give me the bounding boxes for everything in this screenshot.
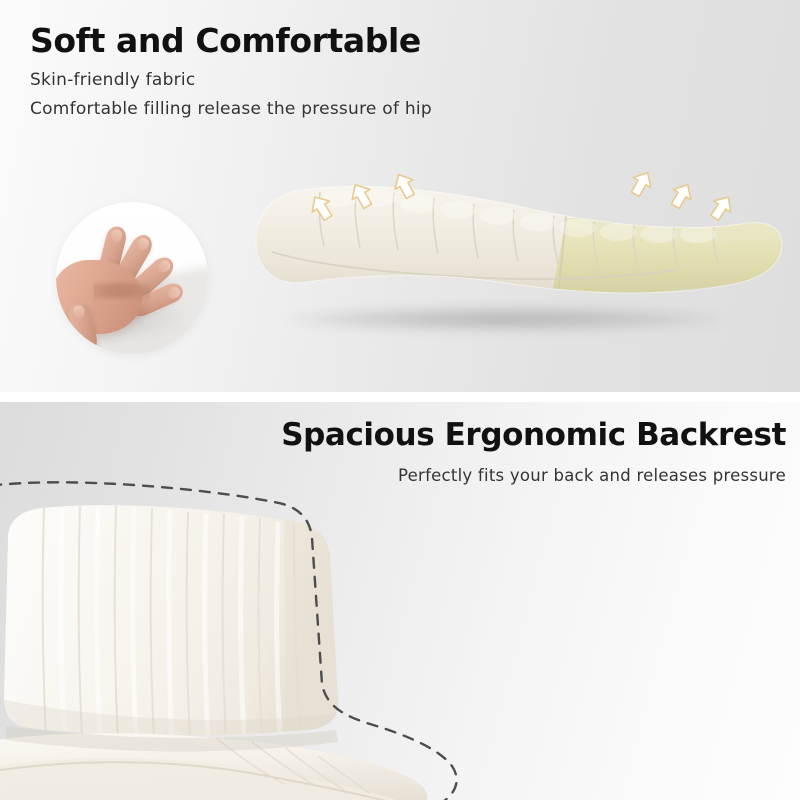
bottom-text-block: Spacious Ergonomic Backrest Perfectly fi… — [66, 418, 786, 489]
panel-soft-and-comfortable: Soft and Comfortable Skin-friendly fabri… — [0, 0, 800, 392]
panel-divider — [0, 392, 800, 402]
product-feature-page: Soft and Comfortable Skin-friendly fabri… — [0, 0, 800, 800]
top-subline-1: Skin-friendly fabric — [30, 67, 670, 93]
hand-icon — [56, 224, 202, 342]
hand-pressing-foam-photo — [56, 202, 208, 354]
bottom-headline: Spacious Ergonomic Backrest — [66, 418, 786, 454]
panel-spacious-ergonomic-backrest: Spacious Ergonomic Backrest Perfectly fi… — [0, 402, 800, 800]
top-headline: Soft and Comfortable — [30, 22, 670, 60]
cushion-body — [248, 166, 788, 316]
ergonomic-chair-backrest — [0, 486, 526, 800]
bottom-subline-1: Perfectly fits your back and releases pr… — [66, 463, 786, 489]
top-subline-2: Comfortable filling release the pressure… — [30, 96, 670, 122]
top-text-block: Soft and Comfortable Skin-friendly fabri… — [30, 22, 670, 122]
curved-seat-cushion — [248, 166, 788, 326]
knuckle-shading — [94, 280, 150, 302]
